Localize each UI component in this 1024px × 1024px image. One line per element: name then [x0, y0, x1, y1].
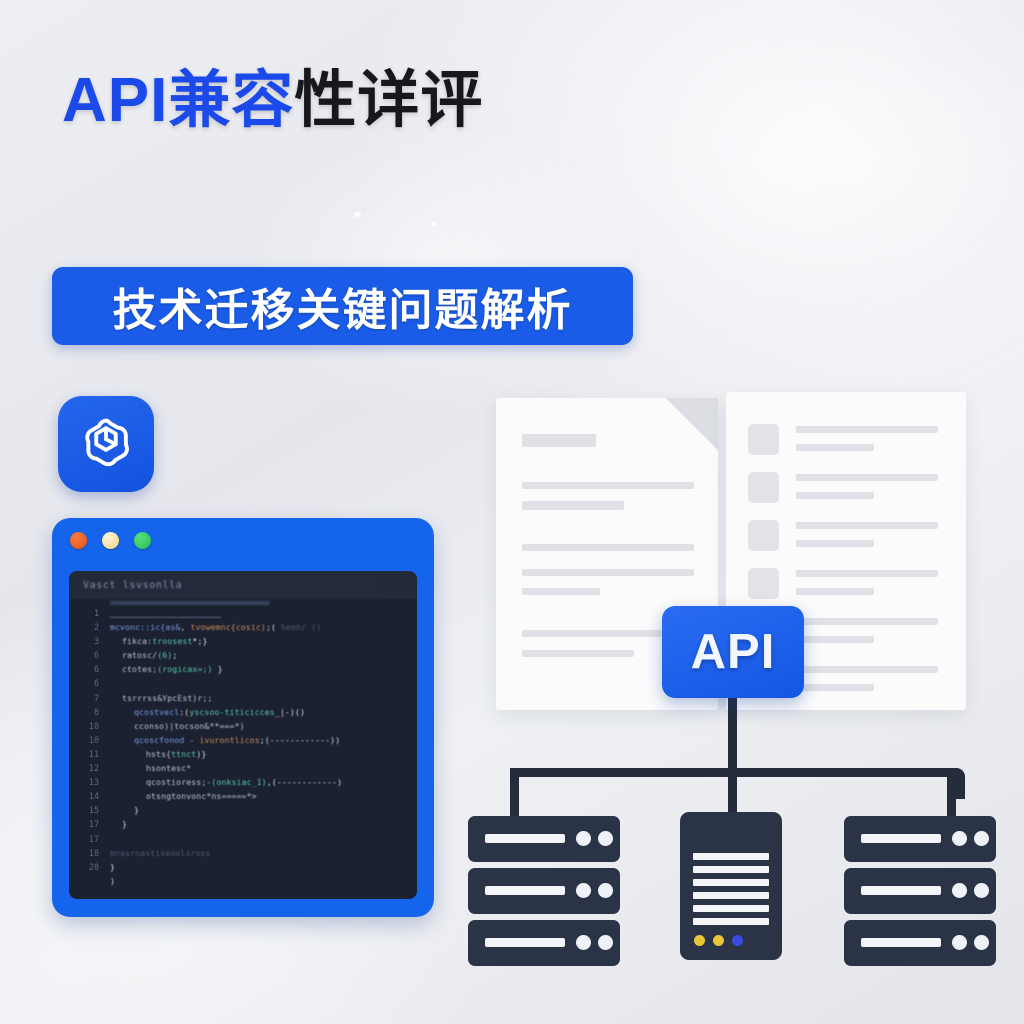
code-ghost-bar [110, 601, 270, 605]
code-line: 18mnasrnastixeoolsross [69, 846, 417, 860]
rack-bar [485, 938, 565, 947]
tower-vent-bar [693, 892, 769, 899]
document-text-bar [796, 474, 938, 481]
checklist-square-icon [748, 424, 779, 455]
code-line-text: ctotes;(rogicax=;) } [110, 662, 223, 676]
rack-indicator-dot [952, 935, 967, 950]
document-text-bar [796, 684, 874, 691]
code-line-text: ratosc/(6); [110, 648, 177, 662]
code-line-text: } [110, 860, 115, 874]
document-text-bar [796, 618, 938, 625]
code-line-text: hsts{ttnct)} [110, 747, 206, 761]
code-line-text: cconso)|tocson&**===*) [110, 719, 245, 733]
page-title-dark-part: 性详评 [294, 66, 483, 135]
code-line-text: qcostvecl:(yscsoo-titicicces_|-)() [110, 705, 305, 719]
code-line: 8qcostvecl:(yscsoo-titicicces_|-)() [69, 705, 417, 719]
tower-vent-bar [693, 866, 769, 873]
code-line: 13qcostioress;-(onksiac_1),(------------… [69, 775, 417, 789]
code-line: 3fikca:troosest*;} [69, 634, 417, 648]
rack-indicator-dot [598, 935, 613, 950]
code-line: 1▁▁▁▁▁▁▁▁▁▁▁▁▁▁▁▁▁▁▁▁▁▁ [69, 606, 417, 620]
code-line: 12hsontesc* [69, 761, 417, 775]
background-speck [432, 222, 437, 226]
connector-drop-center [728, 768, 737, 816]
tower-server [680, 812, 782, 960]
tower-vent-bar [693, 918, 769, 925]
rack-indicator-dot [576, 883, 591, 898]
code-line: 10cconso)|tocson&**===*) [69, 719, 417, 733]
code-line-number: 1 [69, 606, 110, 620]
code-line-number: 14 [69, 789, 110, 803]
server-rack-unit [844, 868, 996, 914]
code-line-number: 17 [69, 832, 110, 846]
server-rack-unit [844, 920, 996, 966]
led-blue-icon [732, 935, 743, 946]
connector-drop-left [510, 768, 519, 816]
document-text-bar [796, 570, 938, 577]
rack-indicator-dot [952, 883, 967, 898]
code-line-text: ) [110, 874, 115, 888]
subtitle-banner-label: 技术迁移关键问题解析 [113, 274, 573, 338]
code-line-number: 11 [69, 747, 110, 761]
code-line-text: } [110, 803, 139, 817]
code-line-text: } [110, 817, 127, 831]
code-line: 14otsngtonvonc*ns=====*> [69, 789, 417, 803]
code-line-text: qcostioress;-(onksiac_1),(------------) [110, 775, 342, 789]
document-text-bar [522, 501, 624, 510]
code-line-text: qcoscfonod - ivurontlicos;(------------)… [110, 733, 340, 747]
page-title: API兼容性详评 [62, 68, 483, 133]
code-line-number: 18 [69, 846, 110, 860]
code-line-number: 17 [69, 817, 110, 831]
document-heading-bar [522, 434, 596, 447]
rack-bar [861, 886, 941, 895]
document-text-bar [796, 444, 874, 451]
code-line-text: mcvonc::ic{as&, tvowemnc{cosic);( hemn/ … [110, 620, 321, 634]
checklist-square-icon [748, 568, 779, 599]
code-line: 20} [69, 860, 417, 874]
document-text-bar [796, 636, 874, 643]
server-rack-unit [468, 868, 620, 914]
document-text-bar [796, 522, 938, 529]
rack-indicator-dot [974, 935, 989, 950]
code-line: 11hsts{ttnct)} [69, 747, 417, 761]
maximize-window-button[interactable] [134, 532, 151, 549]
editor-titlebar [52, 518, 434, 562]
code-line-number: 6 [69, 676, 110, 690]
page-fold-corner-icon [666, 398, 718, 450]
code-line-number: 6 [69, 648, 110, 662]
poster-canvas: API兼容性详评 技术迁移关键问题解析 Vasct lsvsonlla 1▁▁▁… [0, 0, 1024, 1024]
document-text-bar [796, 588, 874, 595]
code-line-text: fikca:troosest*;} [110, 634, 208, 648]
code-line: 2mcvonc::ic{as&, tvowemnc{cosic);( hemn/… [69, 620, 417, 634]
code-line: 15} [69, 803, 417, 817]
server-rack-unit [468, 816, 620, 862]
rack-indicator-dot [576, 935, 591, 950]
connector-stem [728, 698, 737, 774]
code-line-text: hsontesc* [110, 761, 191, 775]
code-line-number: 7 [69, 691, 110, 705]
led-yellow-1-icon [694, 935, 705, 946]
rack-indicator-dot [974, 831, 989, 846]
document-text-bar [522, 544, 694, 551]
server-rack-unit [844, 816, 996, 862]
code-line: ) [69, 874, 417, 888]
openai-logo-icon [76, 414, 136, 474]
document-text-bar [796, 492, 874, 499]
close-window-button[interactable] [70, 532, 87, 549]
rack-indicator-dot [974, 883, 989, 898]
code-line-text: mnasrnastixeoolsross [110, 846, 211, 860]
api-node-badge[interactable]: API [662, 606, 804, 698]
code-line-number: 8 [69, 705, 110, 719]
checklist-square-icon [748, 520, 779, 551]
code-line-text: ▁▁▁▁▁▁▁▁▁▁▁▁▁▁▁▁▁▁▁▁▁▁ [110, 606, 221, 620]
rack-indicator-dot [576, 831, 591, 846]
code-line-number: 6 [69, 662, 110, 676]
code-line: 17 [69, 832, 417, 846]
rack-bar [861, 938, 941, 947]
code-line: 10qcoscfonod - ivurontlicos;(-----------… [69, 733, 417, 747]
rack-indicator-dot [598, 831, 613, 846]
rack-bar [485, 834, 565, 843]
openai-brand-badge[interactable] [58, 396, 154, 492]
subtitle-banner: 技术迁移关键问题解析 [52, 267, 633, 345]
server-rack-unit [468, 920, 620, 966]
editor-file-tab[interactable]: Vasct lsvsonlla [69, 571, 417, 599]
api-node-label: API [691, 624, 776, 680]
background-speck [354, 212, 361, 217]
code-line-number: 10 [69, 733, 110, 747]
code-line-text: otsngtonvonc*ns=====*> [110, 789, 257, 803]
code-line-number: 13 [69, 775, 110, 789]
checklist-square-icon [748, 472, 779, 503]
code-line: 6ctotes;(rogicax=;) } [69, 662, 417, 676]
code-line: 17} [69, 817, 417, 831]
rack-bar [485, 886, 565, 895]
document-text-bar [796, 666, 938, 673]
code-line-number: 12 [69, 761, 110, 775]
document-text-bar [796, 540, 874, 547]
tower-vent-bar [693, 879, 769, 886]
code-line-number: 10 [69, 719, 110, 733]
code-line-number: 15 [69, 803, 110, 817]
connector-drop-right [947, 768, 956, 816]
api-architecture-illustration: API [462, 382, 1002, 934]
document-text-bar [522, 569, 694, 576]
code-surface: Vasct lsvsonlla 1▁▁▁▁▁▁▁▁▁▁▁▁▁▁▁▁▁▁▁▁▁▁2… [69, 571, 417, 899]
code-content[interactable]: 1▁▁▁▁▁▁▁▁▁▁▁▁▁▁▁▁▁▁▁▁▁▁2mcvonc::ic{as&, … [69, 599, 417, 899]
rack-indicator-dot [952, 831, 967, 846]
tower-vent-bar [693, 853, 769, 860]
code-line-text: tsrrrss&YpcEst)r;; [110, 691, 213, 705]
tower-vent-bar [693, 905, 769, 912]
code-editor-window[interactable]: Vasct lsvsonlla 1▁▁▁▁▁▁▁▁▁▁▁▁▁▁▁▁▁▁▁▁▁▁2… [52, 518, 434, 917]
code-line: 7tsrrrss&YpcEst)r;; [69, 691, 417, 705]
minimize-window-button[interactable] [102, 532, 119, 549]
code-line: 6ratosc/(6); [69, 648, 417, 662]
document-text-bar [796, 426, 938, 433]
led-yellow-2-icon [713, 935, 724, 946]
document-text-bar [522, 482, 694, 489]
rack-indicator-dot [598, 883, 613, 898]
rack-bar [861, 834, 941, 843]
code-line-number: 3 [69, 634, 110, 648]
code-line-number: 20 [69, 860, 110, 874]
document-text-bar [522, 650, 634, 657]
code-line-number: 2 [69, 620, 110, 634]
background-wisp [640, 30, 1024, 290]
code-line: 6 [69, 676, 417, 690]
document-text-bar [522, 588, 600, 595]
page-title-blue-part: API兼容 [62, 66, 294, 135]
